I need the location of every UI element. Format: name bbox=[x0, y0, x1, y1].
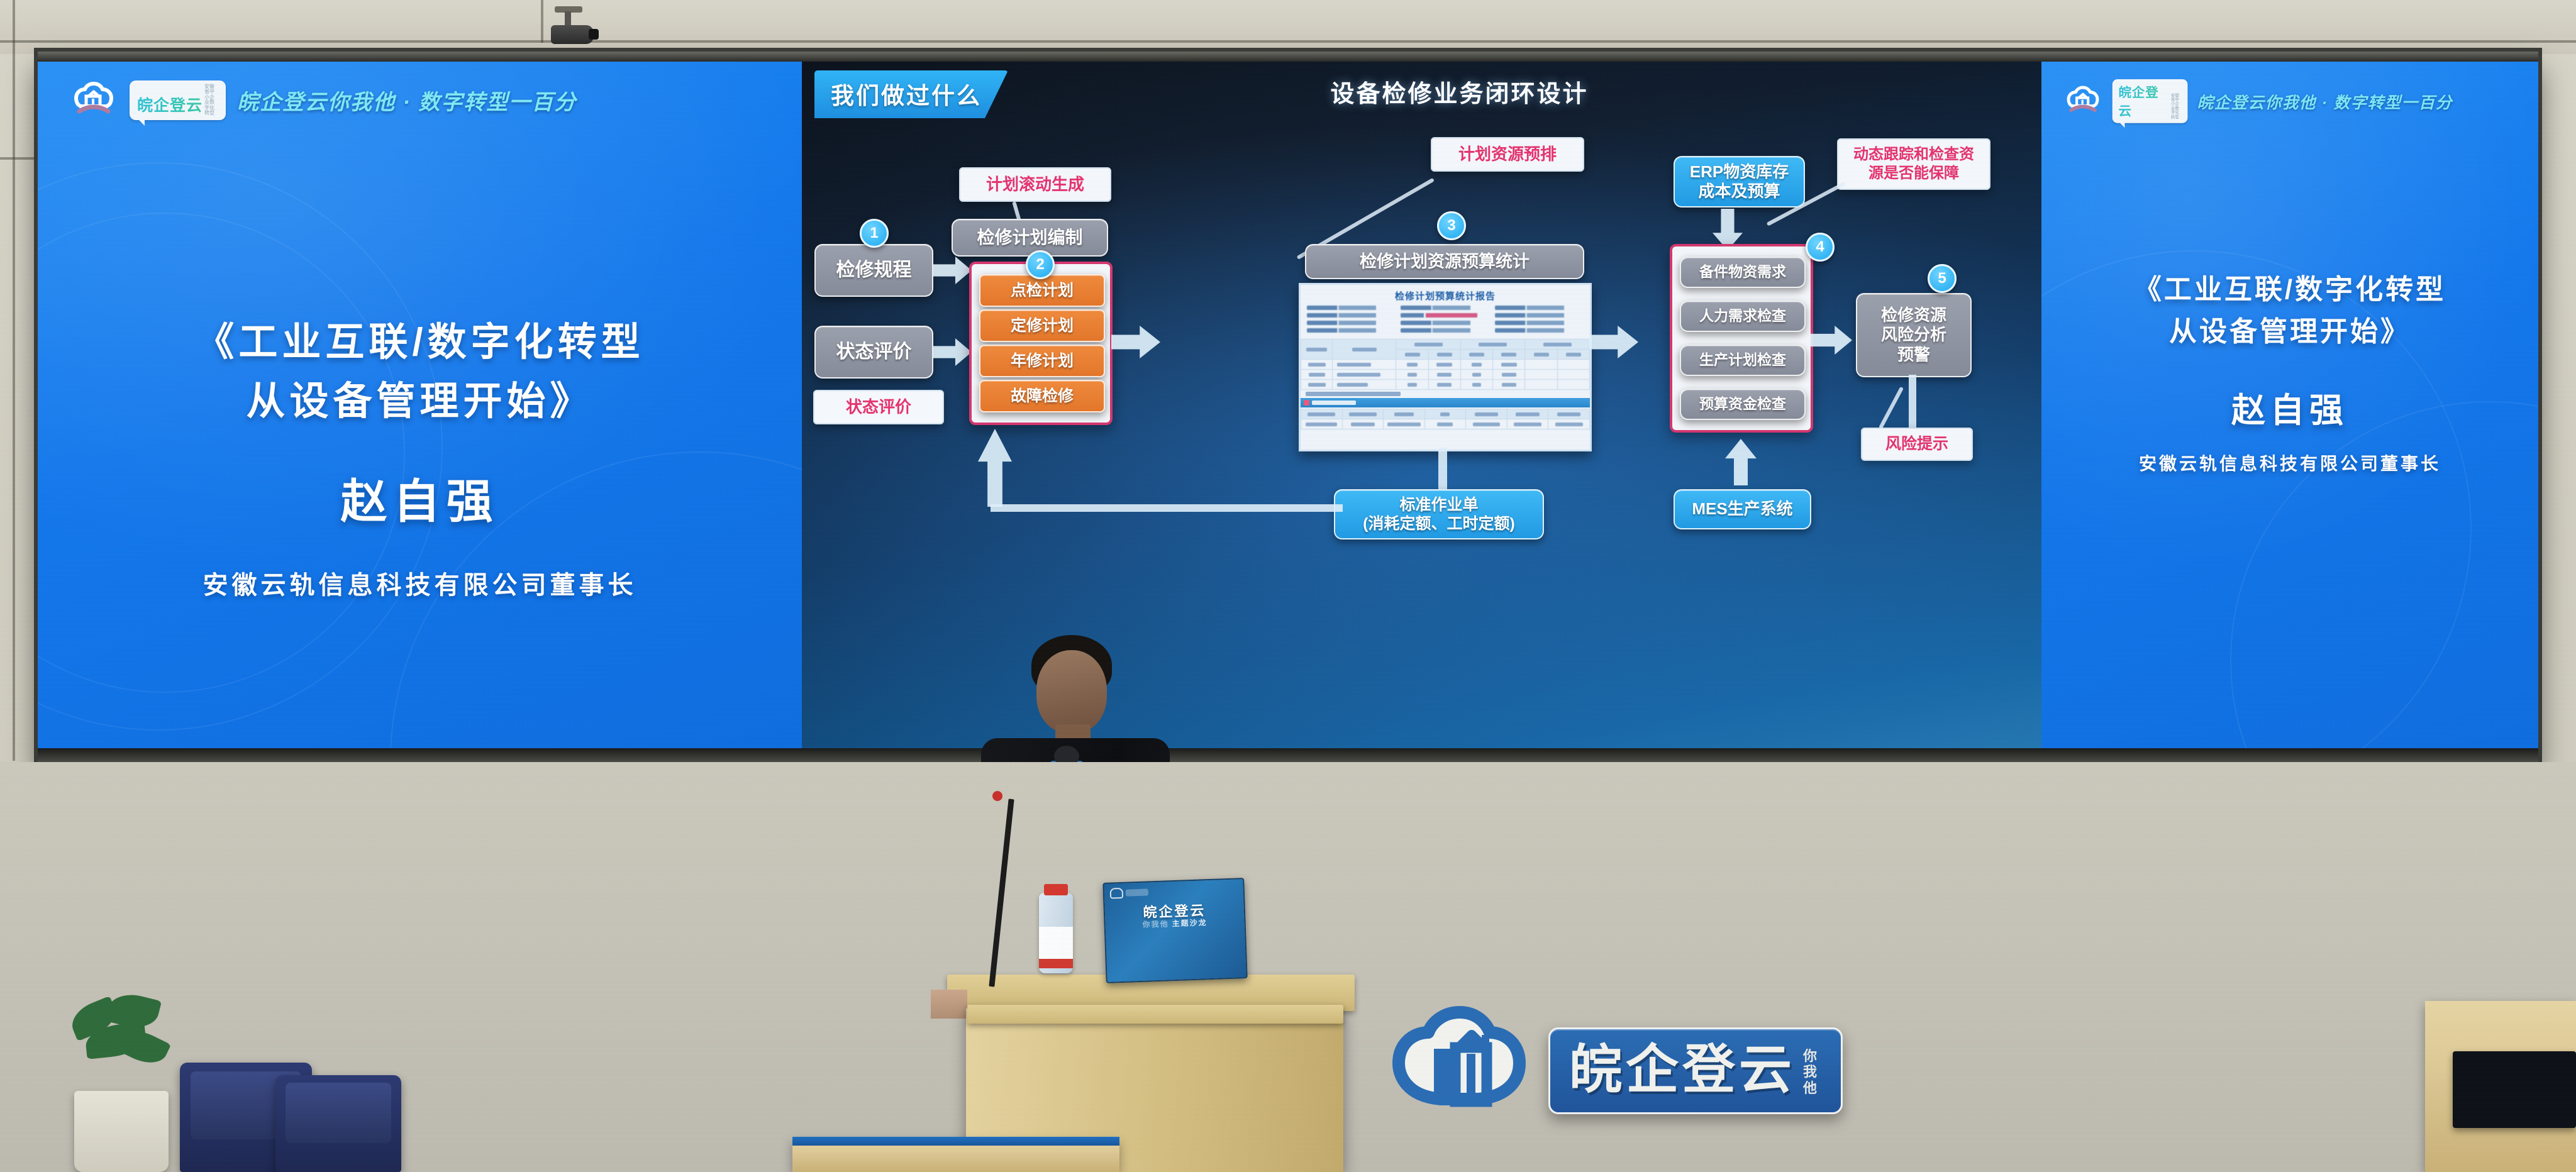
left-title-line2: 从设备管理开始》 bbox=[38, 372, 802, 431]
mock-meta-line bbox=[1307, 328, 1396, 333]
node-input-maintenance-spec: 检修规程 bbox=[814, 244, 933, 297]
left-title-line1: 《工业互联/数字化转型 bbox=[38, 313, 802, 372]
mock-meta-line bbox=[1495, 313, 1584, 318]
brand-pill bbox=[1126, 888, 1148, 896]
callout-plan-rolling: 计划滚动生成 bbox=[959, 167, 1111, 202]
mock-window-title bbox=[1312, 401, 1356, 405]
mock-table-row bbox=[1301, 380, 1590, 390]
right-tagline: 皖企登云你我他 · 数字转型一百分 bbox=[2197, 89, 2453, 113]
right-speaker-name: 赵自强 bbox=[2041, 382, 2538, 432]
table-blue-trim bbox=[792, 1137, 1119, 1146]
brand-lockup-left: 皖企登云 安徽省中小企业数字化转型 皖企登云你我他 · 数字转型一百分 bbox=[69, 80, 577, 120]
camera-lens bbox=[589, 29, 599, 40]
mock-meta-line bbox=[1401, 328, 1489, 333]
mock-report-title: 检修计划预算统计报告 bbox=[1301, 285, 1590, 306]
report-screenshot-mock: 检修计划预算统计报告 bbox=[1299, 283, 1592, 451]
wall-tile-seam bbox=[0, 157, 39, 160]
wall-bezel-bottom bbox=[38, 748, 2538, 762]
mock-meta-line bbox=[1401, 306, 1489, 310]
callout-resource-prescheduling: 计划资源预排 bbox=[1431, 137, 1584, 172]
right-speaker-title: 安徽云轨信息科技有限公司董事长 bbox=[2041, 450, 2538, 475]
left-tagline: 皖企登云你我他 · 数字转型一百分 bbox=[237, 85, 577, 116]
venue-logo-sign: 皖企登云 你我他 bbox=[1387, 1005, 1843, 1137]
camera-body bbox=[551, 25, 594, 44]
node-check-manpower: 人力需求检查 bbox=[1680, 301, 1806, 332]
brand-pill-right: 皖企登云 安徽省中小企业数字化转型 bbox=[2112, 79, 2188, 123]
mock-report-table bbox=[1301, 339, 1590, 390]
mock-detail-header-row bbox=[1301, 409, 1590, 419]
cloud-logo-icon bbox=[1110, 888, 1124, 899]
step-badge-3: 3 bbox=[1437, 211, 1466, 240]
mock-detail-row bbox=[1301, 419, 1590, 429]
laptop-subtitle-dim: 你我他 bbox=[1142, 919, 1169, 929]
cloud-logo-icon bbox=[2063, 85, 2103, 117]
laptop-subtitle-main: 主题沙龙 bbox=[1172, 918, 1207, 928]
photo-scene: 皖企登云 安徽省中小企业数字化转型 皖企登云你我他 · 数字转型一百分 《工业互… bbox=[0, 0, 2576, 1172]
node-budget-statistics: 检修计划资源预算统计 bbox=[1305, 244, 1584, 279]
mock-meta-line bbox=[1401, 321, 1489, 325]
connector-budget-to-sow bbox=[1438, 448, 1447, 489]
resource-check-group: 备件物资需求 人力需求检查 生产计划检查 预算资金检查 bbox=[1670, 244, 1813, 433]
mic-stand-head bbox=[992, 791, 1002, 801]
bottle-cap bbox=[1044, 884, 1069, 895]
callout-dynamic-tracking: 动态跟踪和检查资源是否能保障 bbox=[1837, 138, 1990, 190]
laptop-screen[interactable]: 皖企登云 你我他主题沙龙 bbox=[1102, 878, 1247, 983]
brand-pill-label: 皖企登云 bbox=[137, 93, 203, 116]
node-risk-analysis: 检修资源 风险分析 预警 bbox=[1856, 293, 1972, 377]
lectern-ledge bbox=[967, 1005, 1343, 1024]
sign-main-label: 皖企登云 bbox=[1569, 1043, 1796, 1096]
laptop-display: 皖企登云 你我他主题沙龙 bbox=[1102, 878, 1247, 983]
mock-report-meta bbox=[1301, 306, 1590, 339]
mock-meta-line bbox=[1307, 321, 1396, 325]
plant-pot bbox=[74, 1091, 169, 1172]
upper-wall bbox=[0, 0, 2576, 54]
left-speaker-name: 赵自强 bbox=[38, 464, 802, 531]
node-plan-breakdown: 故障检修 bbox=[979, 380, 1105, 412]
step-badge-1: 1 bbox=[860, 219, 889, 248]
connector-risk-to-tip bbox=[1909, 375, 1916, 428]
mock-meta-line bbox=[1495, 321, 1584, 325]
right-title-line1: 《工业互联/数字化转型 bbox=[2041, 269, 2538, 311]
wall-tile-seam bbox=[13, 0, 15, 761]
brand-lockup-right: 皖企登云 安徽省中小企业数字化转型 皖企登云你我他 · 数字转型一百分 bbox=[2063, 79, 2453, 123]
left-panel-title: 《工业互联/数字化转型 从设备管理开始》 bbox=[38, 313, 802, 431]
mock-meta-col bbox=[1307, 306, 1396, 336]
mock-meta-line bbox=[1307, 306, 1396, 310]
brand-pill-subtext: 安徽省中小企业数字化转型 bbox=[2171, 94, 2182, 119]
node-input-condition-assessment: 状态评价 bbox=[814, 326, 933, 379]
step-badge-5: 5 bbox=[1928, 264, 1957, 293]
callout-condition-assessment: 状态评价 bbox=[813, 390, 944, 424]
node-mes-system: MES生产系统 bbox=[1674, 489, 1811, 529]
mock-window-icon bbox=[1304, 400, 1309, 406]
mock-meta-line bbox=[1401, 313, 1489, 318]
node-erp-inventory: ERP物资库存 成本及预算 bbox=[1674, 156, 1805, 207]
node-check-spare-parts: 备件物资需求 bbox=[1680, 257, 1806, 288]
mock-meta-col bbox=[1495, 306, 1584, 336]
camera-mount-arm bbox=[565, 11, 571, 26]
step-badge-2: 2 bbox=[1026, 250, 1055, 279]
brand-pill-left: 皖企登云 安徽省中小企业数字化转型 bbox=[130, 80, 226, 120]
brand-pill-label: 皖企登云 bbox=[2119, 82, 2170, 119]
side-monitor bbox=[2453, 1051, 2576, 1128]
table-front-panel bbox=[792, 1153, 1119, 1172]
speaker-head bbox=[1036, 650, 1107, 733]
mock-report-footer bbox=[1301, 390, 1590, 398]
mock-table-row bbox=[1301, 360, 1590, 370]
brand-pill-subtext: 安徽省中小企业数字化转型 bbox=[204, 84, 218, 116]
slide-heading: 设备检修业务闭环设计 bbox=[802, 74, 2117, 109]
led-video-wall: 皖企登云 安徽省中小企业数字化转型 皖企登云你我他 · 数字转型一百分 《工业互… bbox=[38, 52, 2538, 762]
auditorium-seat[interactable] bbox=[275, 1075, 401, 1172]
mock-table-header-row bbox=[1301, 340, 1590, 350]
node-standard-work-order: 标准作业单 (消耗定额、工时定额) bbox=[1334, 489, 1544, 539]
node-plan-compile: 检修计划编制 bbox=[952, 219, 1108, 257]
bottle-label bbox=[1039, 927, 1073, 962]
mock-window-titlebar bbox=[1301, 398, 1590, 407]
sign-small-label: 你我他 bbox=[1803, 1048, 1822, 1096]
cloud-logo-icon bbox=[69, 81, 118, 120]
laptop-brand-lockup bbox=[1110, 887, 1149, 898]
bottle-label-stripe bbox=[1039, 959, 1073, 968]
cloud-logo-icon-large bbox=[1387, 1005, 1532, 1137]
node-check-production-plan: 生产计划检查 bbox=[1680, 345, 1806, 376]
mock-meta-line bbox=[1307, 313, 1396, 318]
seat-cushion bbox=[286, 1083, 391, 1142]
node-plan-scheduled: 定修计划 bbox=[979, 309, 1105, 342]
mock-meta-col bbox=[1401, 306, 1489, 336]
left-title-panel: 皖企登云 安徽省中小企业数字化转型 皖企登云你我他 · 数字转型一百分 《工业互… bbox=[38, 62, 802, 748]
mock-meta-line bbox=[1495, 306, 1584, 310]
mock-meta-line bbox=[1495, 328, 1584, 333]
right-panel-title: 《工业互联/数字化转型 从设备管理开始》 bbox=[2041, 269, 2538, 353]
sign-text-plate: 皖企登云 你我他 bbox=[1548, 1027, 1843, 1114]
mock-table-row bbox=[1301, 370, 1590, 380]
plan-type-group: 点检计划 定修计划 年修计划 故障检修 bbox=[969, 262, 1113, 425]
node-plan-annual: 年修计划 bbox=[979, 345, 1105, 377]
potted-plant bbox=[74, 1003, 169, 1172]
step-badge-4: 4 bbox=[1806, 233, 1835, 262]
feedback-loop-line bbox=[991, 504, 1343, 512]
water-bottle bbox=[1039, 893, 1073, 973]
mock-detail-table bbox=[1301, 409, 1590, 429]
node-check-budget-funds: 预算资金检查 bbox=[1680, 389, 1806, 420]
wall-tile-seam bbox=[541, 0, 543, 43]
lectern-side-trim bbox=[931, 990, 967, 1019]
right-title-line2: 从设备管理开始》 bbox=[2041, 311, 2538, 353]
callout-risk-tip: 风险提示 bbox=[1861, 428, 1973, 461]
wall-bezel-top bbox=[38, 52, 2538, 62]
right-title-panel: 皖企登云 安徽省中小企业数字化转型 皖企登云你我他 · 数字转型一百分 《工业互… bbox=[2041, 62, 2538, 748]
left-speaker-title: 安徽云轨信息科技有限公司董事长 bbox=[38, 565, 802, 601]
wall-tile-seam bbox=[0, 40, 2576, 43]
